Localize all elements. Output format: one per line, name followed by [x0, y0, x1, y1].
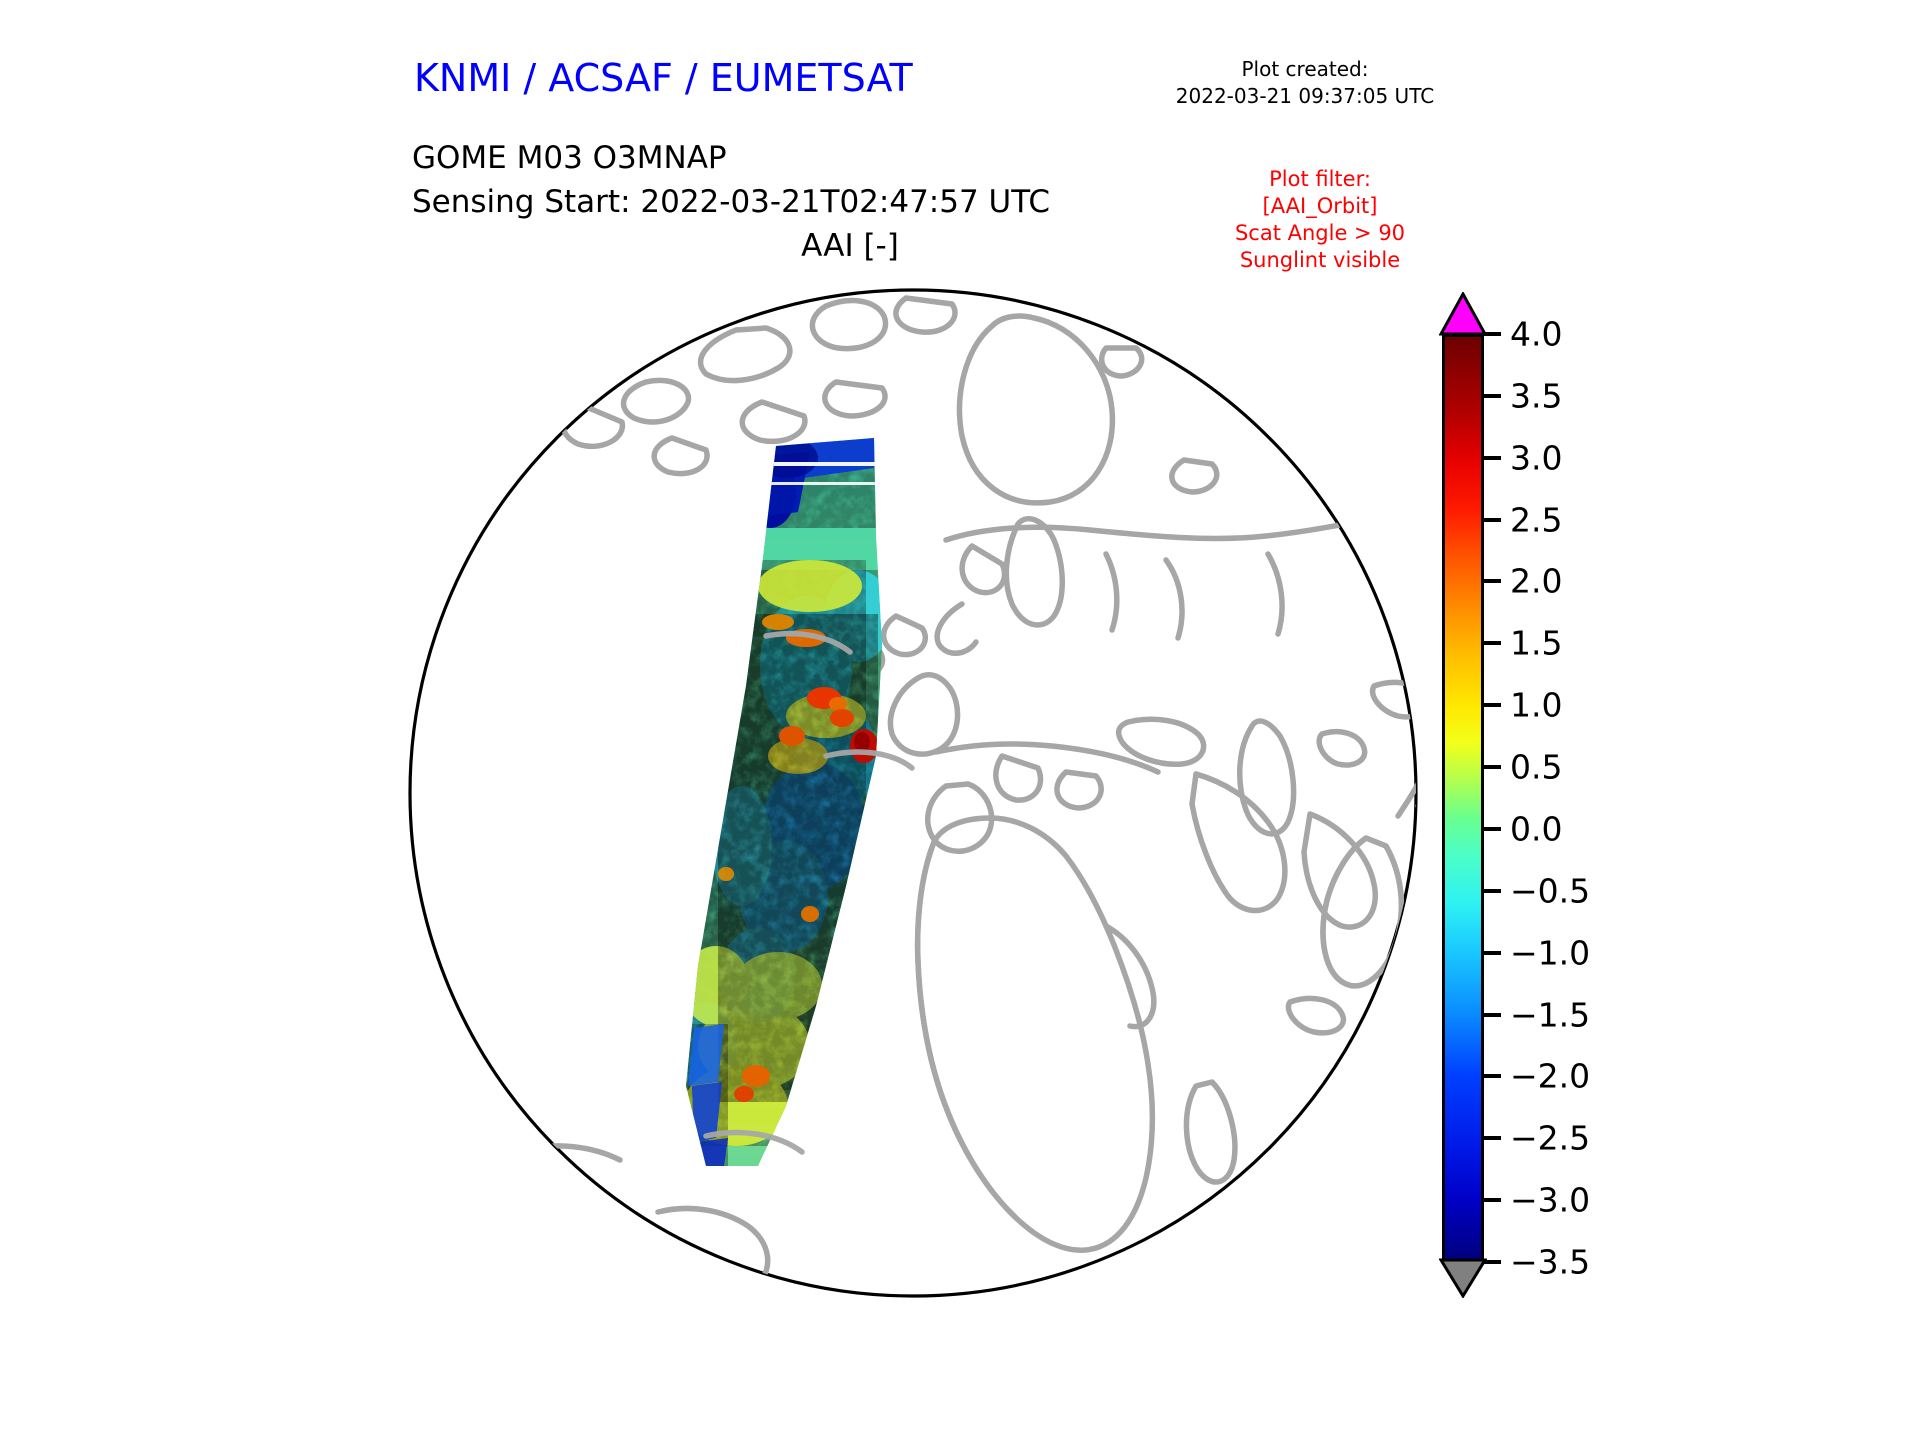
- colorbar-tick-label: −3.5: [1510, 1243, 1590, 1282]
- colorbar-tick-label: 4.0: [1510, 315, 1562, 354]
- plot-filter-label: Plot filter:: [1190, 166, 1450, 193]
- plot-canvas: KNMI / ACSAF / EUMETSAT Plot created: 20…: [0, 0, 1920, 1440]
- colorbar-gradient: [1445, 337, 1481, 1259]
- colorbar-tick: [1484, 951, 1501, 955]
- colorbar-tick: [1484, 394, 1501, 398]
- colorbar-tick: [1484, 518, 1501, 522]
- colorbar-tick-label: −2.0: [1510, 1057, 1590, 1096]
- colorbar-tick: [1484, 1260, 1501, 1264]
- colorbar-tick-label: 1.0: [1510, 686, 1562, 725]
- colorbar-tick: [1484, 1013, 1501, 1017]
- plot-filter-scat-angle: Scat Angle > 90: [1190, 220, 1450, 247]
- colorbar-tick: [1484, 1074, 1501, 1078]
- colorbar-tick-label: 3.5: [1510, 376, 1562, 415]
- colorbar-tick: [1484, 579, 1501, 583]
- plot-created-timestamp: 2022-03-21 09:37:05 UTC: [1160, 84, 1450, 108]
- colorbar-tick-label: 2.5: [1510, 500, 1562, 539]
- colorbar-tick-label: 2.0: [1510, 562, 1562, 601]
- colorbar-under-arrow: [1439, 1258, 1487, 1298]
- colorbar-tick: [1484, 1198, 1501, 1202]
- colorbar-tick: [1484, 827, 1501, 831]
- colorbar-tick-label: 3.0: [1510, 438, 1562, 477]
- organisation-title: KNMI / ACSAF / EUMETSAT: [414, 56, 913, 100]
- colorbar-tick: [1484, 703, 1501, 707]
- colorbar-tick-label: −0.5: [1510, 871, 1590, 910]
- colorbar-tick-label: 0.0: [1510, 809, 1562, 848]
- colorbar: 4.03.53.02.52.01.51.00.50.0−0.5−1.0−1.5−…: [1434, 292, 1654, 1302]
- plot-filter-dataset: [AAI_Orbit]: [1190, 193, 1450, 220]
- product-instrument-line: GOME M03 O3MNAP: [412, 140, 727, 176]
- colorbar-tick: [1484, 332, 1501, 336]
- colorbar-tick: [1484, 765, 1501, 769]
- colorbar-over-arrow: [1439, 292, 1487, 336]
- page-title: AAI [-]: [640, 228, 1060, 264]
- globe-map: [406, 286, 1420, 1300]
- plot-filter-block: Plot filter: [AAI_Orbit] Scat Angle > 90…: [1190, 166, 1450, 274]
- colorbar-tick: [1484, 456, 1501, 460]
- plot-created-label: Plot created:: [1160, 57, 1450, 81]
- plot-filter-sunglint: Sunglint visible: [1190, 247, 1450, 274]
- colorbar-tick-label: −1.5: [1510, 995, 1590, 1034]
- colorbar-gradient-body: [1442, 334, 1484, 1262]
- colorbar-tick: [1484, 889, 1501, 893]
- orthographic-projection: [406, 286, 1420, 1300]
- colorbar-tick-label: 1.5: [1510, 624, 1562, 663]
- colorbar-tick: [1484, 1136, 1501, 1140]
- product-sensing-start-line: Sensing Start: 2022-03-21T02:47:57 UTC: [412, 184, 1050, 220]
- colorbar-tick-label: −3.0: [1510, 1181, 1590, 1220]
- colorbar-tick-label: −2.5: [1510, 1119, 1590, 1158]
- colorbar-tick: [1484, 641, 1501, 645]
- colorbar-tick-label: −1.0: [1510, 933, 1590, 972]
- colorbar-tick-label: 0.5: [1510, 748, 1562, 787]
